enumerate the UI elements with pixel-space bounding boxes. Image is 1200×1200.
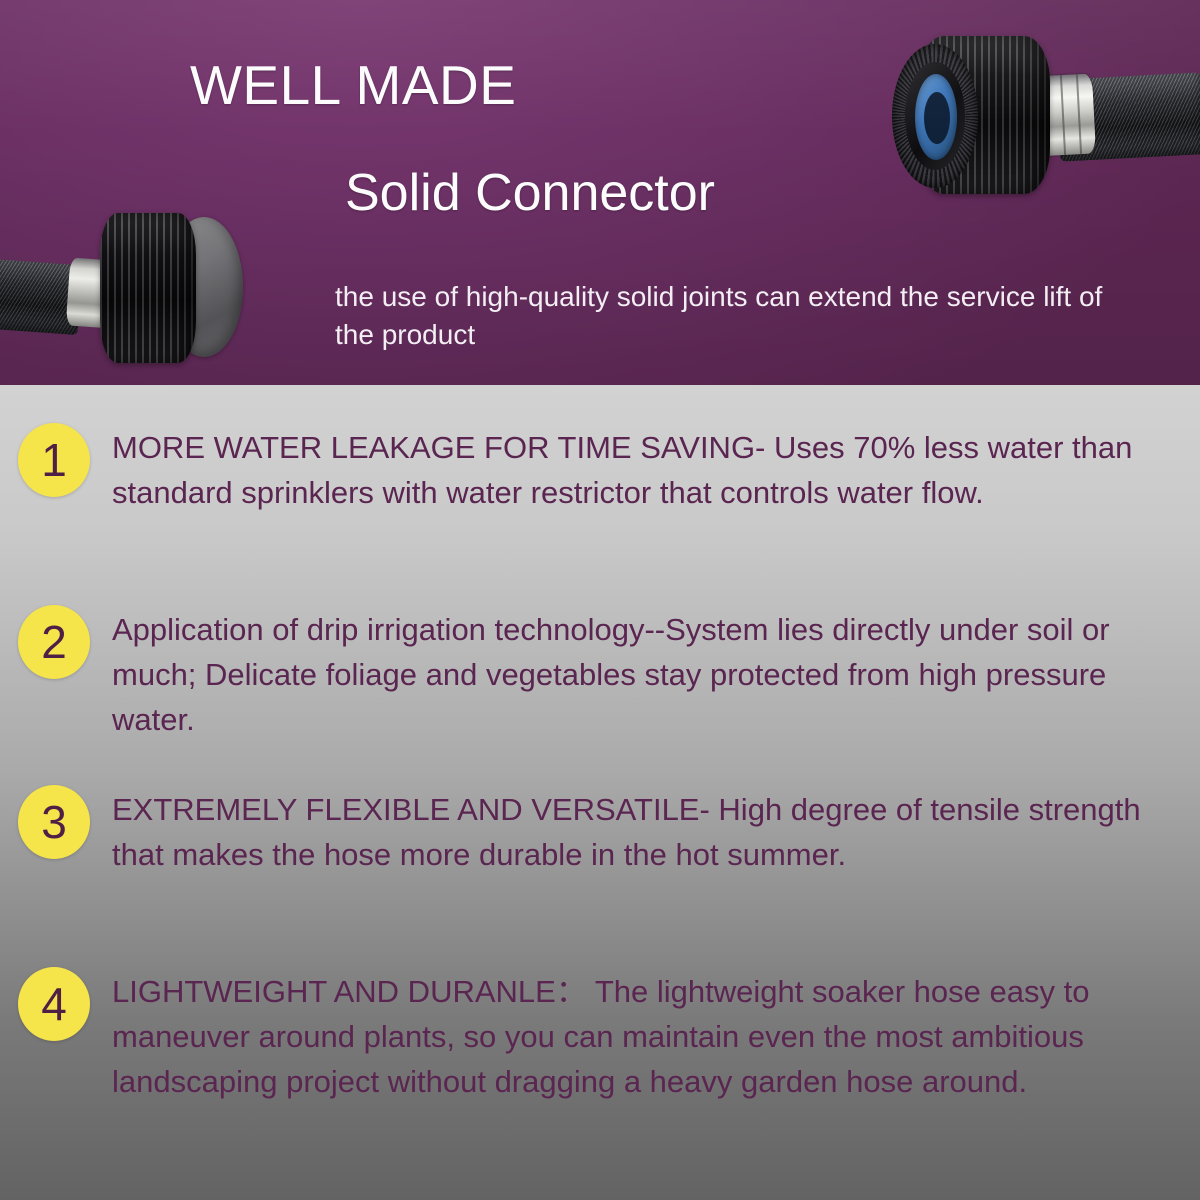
hose-connector-nut-icon — [880, 20, 1200, 240]
blue-gasket-icon — [915, 74, 957, 160]
feature-item-2: 2 Application of drip irrigation technol… — [0, 605, 1200, 742]
feature-text-2: Application of drip irrigation technolog… — [112, 605, 1186, 742]
feature-number-badge-1: 1 — [18, 423, 90, 497]
feature-text-3: EXTREMELY FLEXIBLE AND VERSATILE- High d… — [112, 785, 1186, 877]
feature-list: 1 MORE WATER LEAKAGE FOR TIME SAVING- Us… — [0, 385, 1200, 1200]
feature-number-badge-4: 4 — [18, 967, 90, 1041]
hero-description: the use of high-quality solid joints can… — [335, 278, 1125, 354]
feature-item-4: 4 LIGHTWEIGHT AND DURANLE： The lightweig… — [0, 967, 1200, 1104]
feature-number-badge-3: 3 — [18, 785, 90, 859]
hero-subtitle: Solid Connector — [345, 163, 715, 223]
hero-banner: WELL MADE Solid Connector the use of hig… — [0, 0, 1200, 385]
feature-text-4: LIGHTWEIGHT AND DURANLE： The lightweight… — [112, 967, 1186, 1104]
feature-text-1: MORE WATER LEAKAGE FOR TIME SAVING- Uses… — [112, 423, 1186, 515]
ridged-nut-left — [100, 213, 196, 363]
feature-item-1: 1 MORE WATER LEAKAGE FOR TIME SAVING- Us… — [0, 423, 1200, 515]
hero-title: WELL MADE — [190, 54, 516, 116]
hose-connector-cap-icon — [0, 205, 260, 385]
gasket-bore — [924, 92, 950, 144]
product-infographic: WELL MADE Solid Connector the use of hig… — [0, 0, 1200, 1200]
threaded-collar-right — [892, 44, 978, 188]
feature-item-3: 3 EXTREMELY FLEXIBLE AND VERSATILE- High… — [0, 785, 1200, 877]
feature-number-badge-2: 2 — [18, 605, 90, 679]
